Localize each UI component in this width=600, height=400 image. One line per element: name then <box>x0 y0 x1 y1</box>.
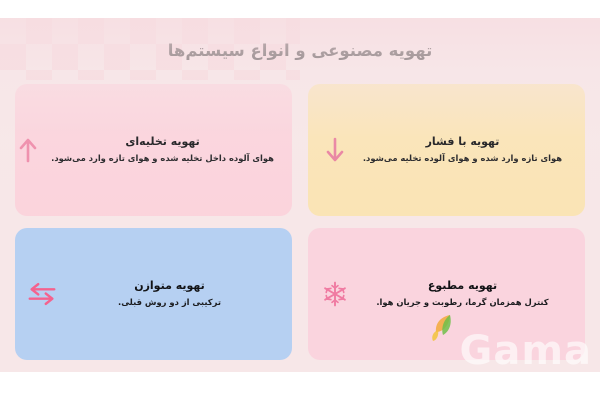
card-exhaust-ventilation[interactable]: تهویه تخلیه‌ای هوای آلوده داخل تخلیه شده… <box>15 84 292 216</box>
card-pressure-text: تهویه با فشار هوای تازه وارد شده و هوای … <box>352 135 571 164</box>
card-exhaust-text: تهویه تخلیه‌ای هوای آلوده داخل تخلیه شده… <box>45 135 278 164</box>
card-balanced-text: تهویه متوازن ترکیبی از دو روش قبلی. <box>59 279 278 308</box>
card-exhaust-description: هوای آلوده داخل تخلیه شده و هوای تازه وا… <box>51 152 274 164</box>
card-comfort-description: کنترل همزمان گرما، رطوبت و جریان هوا. <box>358 296 567 308</box>
page-title: تهویه مصنوعی و انواع سیستم‌ها <box>168 41 433 60</box>
card-comfort-text: تهویه مطبوع کنترل همزمان گرما، رطوبت و ج… <box>352 279 571 308</box>
card-pressure-ventilation[interactable]: تهویه با فشار هوای تازه وارد شده و هوای … <box>308 84 585 216</box>
arrow-up-icon <box>15 130 45 170</box>
snowflake-icon <box>318 274 352 314</box>
arrow-down-icon <box>318 130 352 170</box>
card-balanced-description: ترکیبی از دو روش قبلی. <box>65 296 274 308</box>
card-balanced-ventilation[interactable]: تهویه متوازن ترکیبی از دو روش قبلی. <box>15 228 292 360</box>
arrows-left-right-icon <box>25 274 59 314</box>
card-exhaust-title: تهویه تخلیه‌ای <box>51 135 274 150</box>
card-comfort-ventilation[interactable]: تهویه مطبوع کنترل همزمان گرما، رطوبت و ج… <box>308 228 585 360</box>
card-pressure-title: تهویه با فشار <box>358 135 567 150</box>
card-pressure-description: هوای تازه وارد شده و هوای آلوده تخلیه می… <box>358 152 567 164</box>
slide-header: تهویه مصنوعی و انواع سیستم‌ها <box>0 18 600 82</box>
slide-canvas: تهویه مصنوعی و انواع سیستم‌ها تهویه با ف… <box>0 18 600 372</box>
ventilation-card-grid: تهویه با فشار هوای تازه وارد شده و هوای … <box>15 84 585 360</box>
card-balanced-title: تهویه متوازن <box>65 279 274 294</box>
card-comfort-title: تهویه مطبوع <box>358 279 567 294</box>
